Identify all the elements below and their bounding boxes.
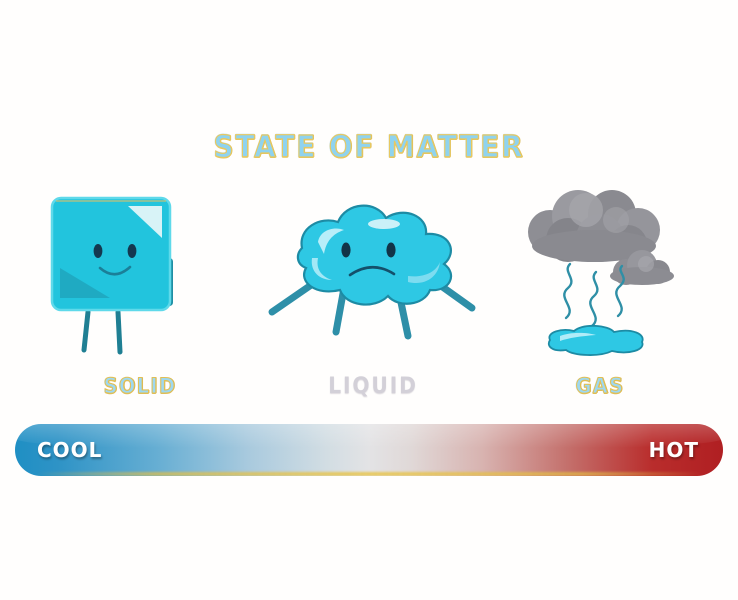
gas-character-icon — [508, 180, 693, 365]
solid-character-icon — [40, 180, 200, 365]
state-label-gas: GAS — [526, 374, 673, 398]
bar-gloss-highlight — [15, 424, 723, 448]
states-illustration-row — [0, 180, 738, 365]
state-label-liquid: LIQUID — [286, 374, 461, 399]
temperature-scale-bar: COOL HOT — [15, 424, 723, 476]
temperature-gradient — [15, 424, 723, 476]
gas-puddle — [549, 326, 643, 355]
temperature-label-cool: COOL — [37, 438, 102, 462]
poster-canvas: STATE OF MATTER — [0, 0, 738, 600]
page-title: STATE OF MATTER — [26, 130, 712, 165]
state-labels-row: SOLID LIQUID GAS — [0, 374, 738, 404]
liquid-character-icon — [258, 180, 488, 365]
temperature-label-hot: HOT — [649, 438, 699, 462]
state-label-solid: SOLID — [66, 374, 213, 398]
